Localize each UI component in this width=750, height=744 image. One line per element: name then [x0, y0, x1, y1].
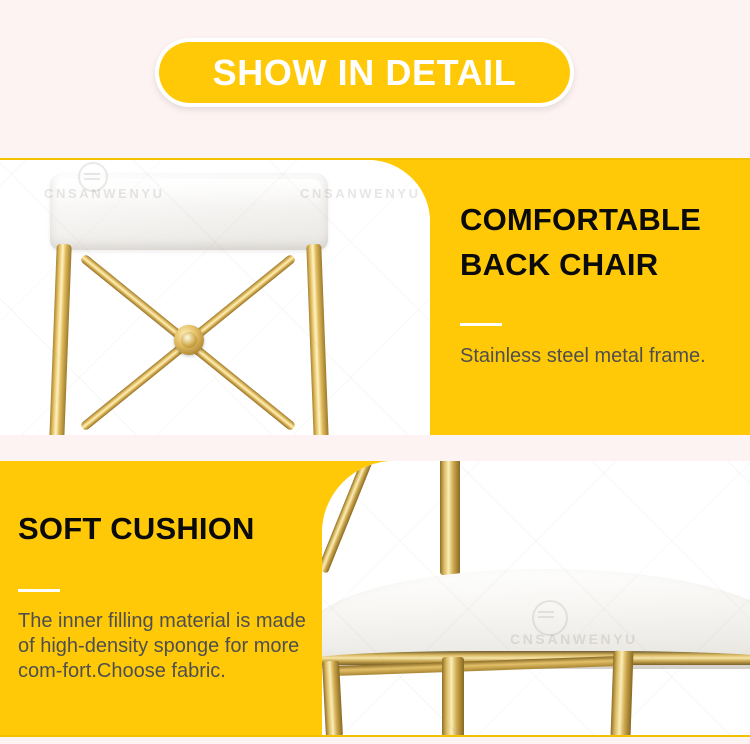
headline-divider: [18, 589, 60, 592]
section-separator: [0, 435, 750, 461]
headline-soft-cushion: SOFT CUSHION: [18, 461, 318, 551]
bottom-divider-rule: [0, 735, 750, 737]
photo-stage: CNSANWENYU: [322, 461, 750, 735]
headline-divider: [460, 323, 502, 326]
chair-back-photo: CNSANWENYU CNSANWENYU: [0, 160, 430, 435]
show-in-detail-badge: SHOW IN DETAIL: [159, 42, 570, 103]
seat-cushion-photo: CNSANWENYU: [322, 461, 750, 735]
banner-header: SHOW IN DETAIL: [0, 0, 750, 158]
chair-backrest: [50, 173, 328, 250]
chair-brace-diagonal: [322, 461, 376, 574]
chair-leg-front: [442, 657, 464, 735]
headline-line-2: BACK CHAIR: [460, 247, 658, 282]
body-text-soft-cushion: The inner filling material is made of hi…: [18, 609, 318, 684]
body-text-back-chair: Stainless steel metal frame.: [460, 344, 740, 369]
banner-title: SHOW IN DETAIL: [213, 55, 517, 91]
copy-block-soft-cushion: SOFT CUSHION The inner filling material …: [18, 461, 318, 735]
chair-back-post: [440, 461, 460, 575]
copy-block-back-chair: COMFORTABLE BACK CHAIR Stainless steel m…: [460, 160, 740, 435]
section-comfortable-back-chair: CNSANWENYU CNSANWENYU COMFORTABLE BACK C…: [0, 160, 750, 435]
product-detail-page: SHOW IN DETAIL CNSANWENYU CNSANWENYU CO: [0, 0, 750, 744]
chair-leg-right: [306, 244, 329, 435]
headline-line-1: SOFT CUSHION: [18, 511, 255, 546]
banner-pill-ring: SHOW IN DETAIL: [155, 38, 574, 107]
chair-leg-right: [611, 651, 634, 735]
photo-stage: CNSANWENYU CNSANWENYU: [0, 160, 430, 435]
chair-rosette-ornament: [174, 325, 204, 355]
chair-leg-left: [49, 244, 72, 435]
headline-back-chair: COMFORTABLE BACK CHAIR: [460, 160, 740, 287]
section-soft-cushion: SOFT CUSHION The inner filling material …: [0, 461, 750, 735]
headline-line-1: COMFORTABLE: [460, 202, 701, 237]
